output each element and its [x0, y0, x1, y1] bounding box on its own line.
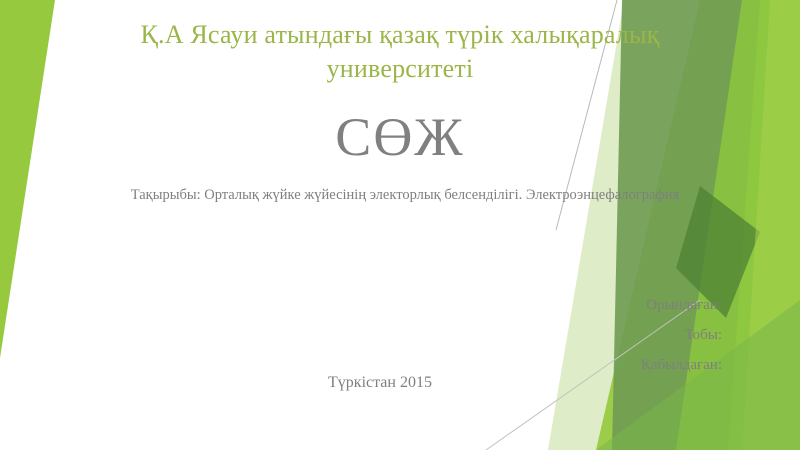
credit-performed-by: Орындаған:: [402, 290, 722, 320]
credit-group: Тобы:: [402, 320, 722, 350]
slide-topic: Тақырыбы: Орталық жүйке жүйесінің электо…: [60, 186, 750, 205]
presentation-slide: Қ.А Ясауи атындағы қазақ түрік халықарал…: [0, 0, 800, 450]
slide-heading: СӨЖ: [200, 108, 600, 167]
page-title: Қ.А Ясауи атындағы қазақ түрік халықарал…: [120, 18, 680, 87]
credits-block: Орындаған: Тобы: Қабылдаған:: [402, 290, 722, 380]
slide-place-year: Түркістан 2015: [250, 374, 510, 392]
slide-text-layer: Қ.А Ясауи атындағы қазақ түрік халықарал…: [0, 0, 800, 450]
